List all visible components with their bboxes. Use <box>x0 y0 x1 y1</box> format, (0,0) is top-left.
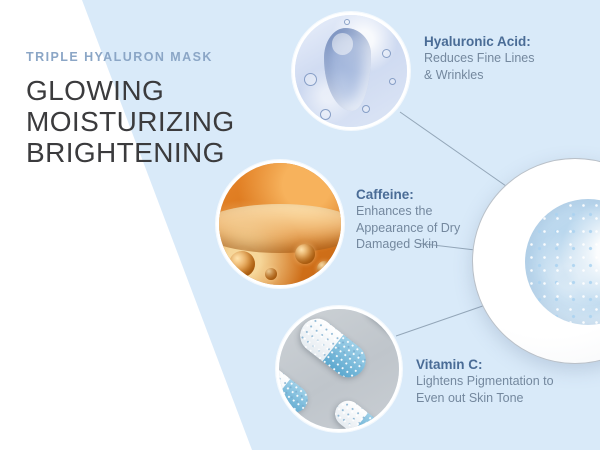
capsule-shape <box>293 311 372 383</box>
ingredient-title: Hyaluronic Acid: <box>424 33 594 50</box>
capsule-shape <box>330 395 390 432</box>
ingredient-name: Caffeine <box>356 187 409 202</box>
jar-gel-center <box>525 199 600 325</box>
oil-band-shape <box>216 204 344 253</box>
ingredient-name: Hyaluronic Acid <box>424 34 526 49</box>
description-line: Even out Skin Tone <box>416 390 598 407</box>
ingredient-description: Reduces Fine Lines & Wrinkles <box>424 50 594 83</box>
ingredient-description: Lightens Pigmentation to Even out Skin T… <box>416 373 598 406</box>
description-line: Damaged Skin <box>356 236 506 253</box>
callout-hyaluronic-acid: Hyaluronic Acid: Reduces Fine Lines & Wr… <box>424 33 594 83</box>
capsule-shape <box>361 306 402 345</box>
capsule-shape <box>276 361 313 418</box>
callout-vitamin-c: Vitamin C: Lightens Pigmentation to Even… <box>416 356 598 406</box>
title-colon: : <box>478 357 483 372</box>
description-line: Appearance of Dry <box>356 220 506 237</box>
headline-line-1: GLOWING <box>26 75 266 106</box>
headline-block: TRIPLE HYALURON MASK GLOWING MOISTURIZIN… <box>26 50 266 168</box>
gel-sparkle-texture <box>525 199 600 325</box>
bubble-icon <box>389 78 396 85</box>
oil-droplet <box>229 251 255 277</box>
infographic-canvas: TRIPLE HYALURON MASK GLOWING MOISTURIZIN… <box>0 0 600 450</box>
description-line: Enhances the <box>356 203 506 220</box>
title-colon: : <box>409 187 414 202</box>
headline-line-2: MOISTURIZING <box>26 106 266 137</box>
oil-texture <box>219 163 341 285</box>
oil-droplet <box>265 268 277 280</box>
capsule-texture <box>279 309 399 429</box>
page-title: GLOWING MOISTURIZING BRIGHTENING <box>26 75 266 168</box>
ingredient-image-vitamin-c <box>276 306 402 432</box>
bubble-icon <box>304 73 317 86</box>
callout-caffeine: Caffeine: Enhances the Appearance of Dry… <box>356 186 506 253</box>
gel-texture <box>295 15 407 127</box>
bubble-icon <box>344 19 350 25</box>
bubble-icon <box>382 49 391 58</box>
oil-droplet <box>317 261 332 276</box>
eyebrow-text: TRIPLE HYALURON MASK <box>26 50 266 64</box>
ingredient-title: Caffeine: <box>356 186 506 203</box>
bubble-icon <box>320 109 331 120</box>
ingredient-title: Vitamin C: <box>416 356 598 373</box>
ingredient-description: Enhances the Appearance of Dry Damaged S… <box>356 203 506 253</box>
ingredient-name: Vitamin C <box>416 357 478 372</box>
description-line: Reduces Fine Lines <box>424 50 594 67</box>
gel-blob-shape <box>324 28 371 111</box>
bubble-icon <box>362 105 370 113</box>
description-line: Lightens Pigmentation to <box>416 373 598 390</box>
description-line: & Wrinkles <box>424 67 594 84</box>
oil-droplet <box>295 244 315 264</box>
ingredient-image-hyaluronic-acid <box>292 12 410 130</box>
ingredient-image-caffeine <box>216 160 344 288</box>
title-colon: : <box>526 34 531 49</box>
